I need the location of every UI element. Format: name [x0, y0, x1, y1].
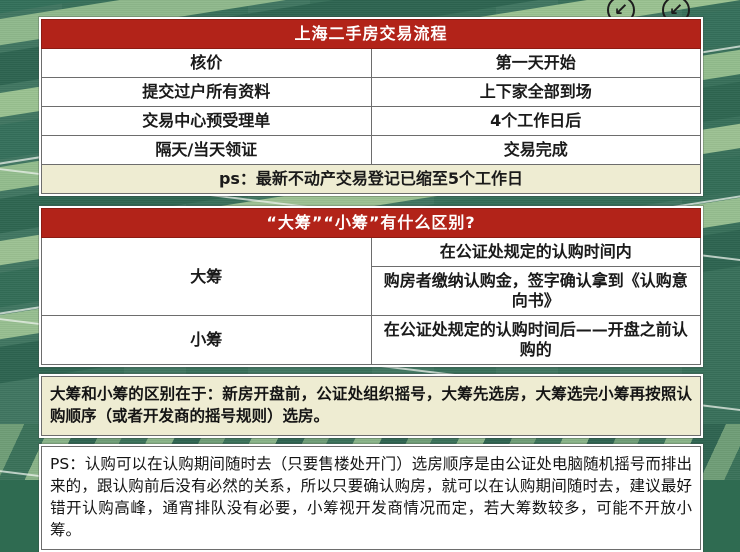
process-table-note: ps：最新不动产交易登记已缩至5个工作日: [42, 165, 701, 194]
chip-desc: 购房者缴纳认购金，签字确认拿到《认购意向书》: [371, 267, 701, 316]
chip-desc: 在公证处规定的认购时间内: [371, 238, 701, 267]
process-step: 核价: [42, 49, 372, 78]
chip-panel: “大筹”“小筹”有什么区别? 大筹 在公证处规定的认购时间内 购房者缴纳认购金，…: [39, 206, 703, 367]
table-row: 交易中心预受理单 4个工作日后: [42, 107, 701, 136]
chip-ps-panel: PS：认购可以在认购期间随时去（只要售楼处开门）选房顺序是由公证处电脑随机摇号而…: [39, 444, 703, 552]
chip-label-small: 小筹: [42, 316, 372, 365]
table-row: 提交过户所有资料 上下家全部到场: [42, 78, 701, 107]
process-timing: 交易完成: [371, 136, 701, 165]
process-timing: 第一天开始: [371, 49, 701, 78]
table-row: 小筹 在公证处规定的认购时间后——开盘之前认购的: [42, 316, 701, 365]
chip-explanation-panel: 大筹和小筹的区别在于：新房开盘前，公证处组织摇号，大筹先选房，大筹选完小筹再按照…: [39, 374, 703, 438]
process-panel: 上海二手房交易流程 核价 第一天开始 提交过户所有资料 上下家全部到场 交易中心…: [39, 17, 703, 196]
table-row: 隔天/当天领证 交易完成: [42, 136, 701, 165]
chip-ps-text: PS：认购可以在认购期间随时去（只要售楼处开门）选房顺序是由公证处电脑随机摇号而…: [41, 446, 701, 550]
table-row: 核价 第一天开始: [42, 49, 701, 78]
chip-table-title: “大筹”“小筹”有什么区别?: [42, 209, 701, 238]
table-note-row: ps：最新不动产交易登记已缩至5个工作日: [42, 165, 701, 194]
process-table: 上海二手房交易流程 核价 第一天开始 提交过户所有资料 上下家全部到场 交易中心…: [41, 19, 701, 194]
process-timing: 4个工作日后: [371, 107, 701, 136]
table-header-row: “大筹”“小筹”有什么区别?: [42, 209, 701, 238]
chip-table: “大筹”“小筹”有什么区别? 大筹 在公证处规定的认购时间内 购房者缴纳认购金，…: [41, 208, 701, 365]
process-step: 隔天/当天领证: [42, 136, 372, 165]
process-step: 交易中心预受理单: [42, 107, 372, 136]
process-table-title: 上海二手房交易流程: [42, 20, 701, 49]
chip-label-big: 大筹: [42, 238, 372, 316]
table-row: 大筹 在公证处规定的认购时间内: [42, 238, 701, 267]
chip-desc: 在公证处规定的认购时间后——开盘之前认购的: [371, 316, 701, 365]
chip-explanation-text: 大筹和小筹的区别在于：新房开盘前，公证处组织摇号，大筹先选房，大筹选完小筹再按照…: [41, 376, 701, 436]
process-step: 提交过户所有资料: [42, 78, 372, 107]
infographic-content: 上海二手房交易流程 核价 第一天开始 提交过户所有资料 上下家全部到场 交易中心…: [39, 17, 703, 552]
process-timing: 上下家全部到场: [371, 78, 701, 107]
table-header-row: 上海二手房交易流程: [42, 20, 701, 49]
